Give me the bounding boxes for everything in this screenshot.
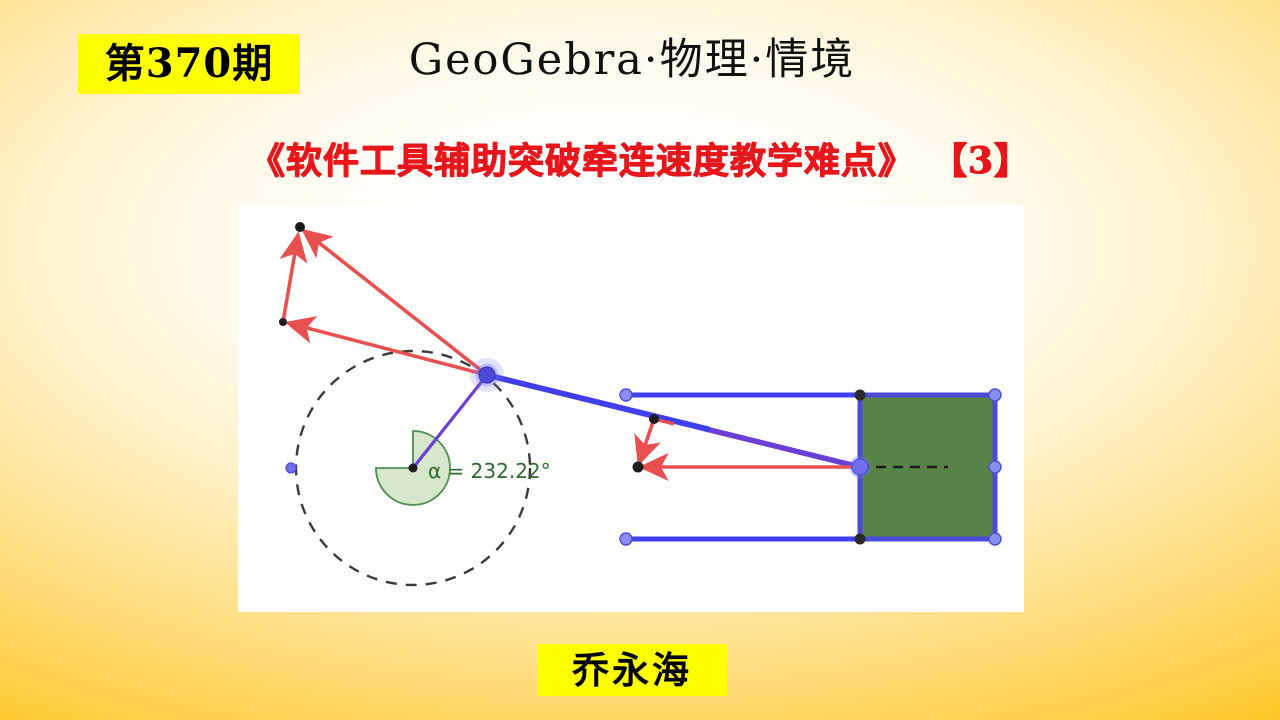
block-vector-corner-point [649, 414, 659, 424]
vector-tail-point [279, 318, 287, 326]
block-edge-right-mid [989, 461, 1001, 473]
circle-left-point [286, 463, 296, 473]
circle-center-point [409, 464, 418, 473]
block-contact-point [852, 459, 868, 475]
vector-tip-point [295, 222, 305, 232]
velocity-vector-component-a [288, 323, 487, 375]
pivot-point [479, 367, 495, 383]
slide-stage: 第370期 GeoGebra·物理·情境 《软件工具辅助突破牵连速度教学难点》 … [0, 0, 1280, 720]
author-badge: 乔永海 [537, 644, 727, 696]
rail-upper-left-handle [620, 389, 632, 401]
rail-lower-left-handle [620, 533, 632, 545]
block-vector-tip-point [633, 462, 644, 473]
block-corner-bottom-left [855, 534, 866, 545]
geogebra-canvas[interactable]: α = 232.22° [238, 205, 1024, 612]
page-title: GeoGebra·物理·情境 [0, 36, 1272, 85]
velocity-vector-component-b [283, 235, 298, 322]
velocity-vector-tangential [304, 231, 487, 375]
radius-line [413, 375, 487, 468]
block-corner-bottom-right [989, 533, 1001, 545]
block-corner-top-right [989, 389, 1001, 401]
block-corner-top-left [855, 390, 866, 401]
block-velocity-component-vector [639, 419, 654, 463]
subtitle-text: 《软件工具辅助突破牵连速度教学难点》 [249, 142, 915, 182]
subtitle-row: 《软件工具辅助突破牵连速度教学难点》 【3】 [0, 142, 1280, 182]
angle-label: α = 232.22° [428, 459, 551, 483]
subtitle-part-number: 【3】 [931, 142, 1031, 182]
